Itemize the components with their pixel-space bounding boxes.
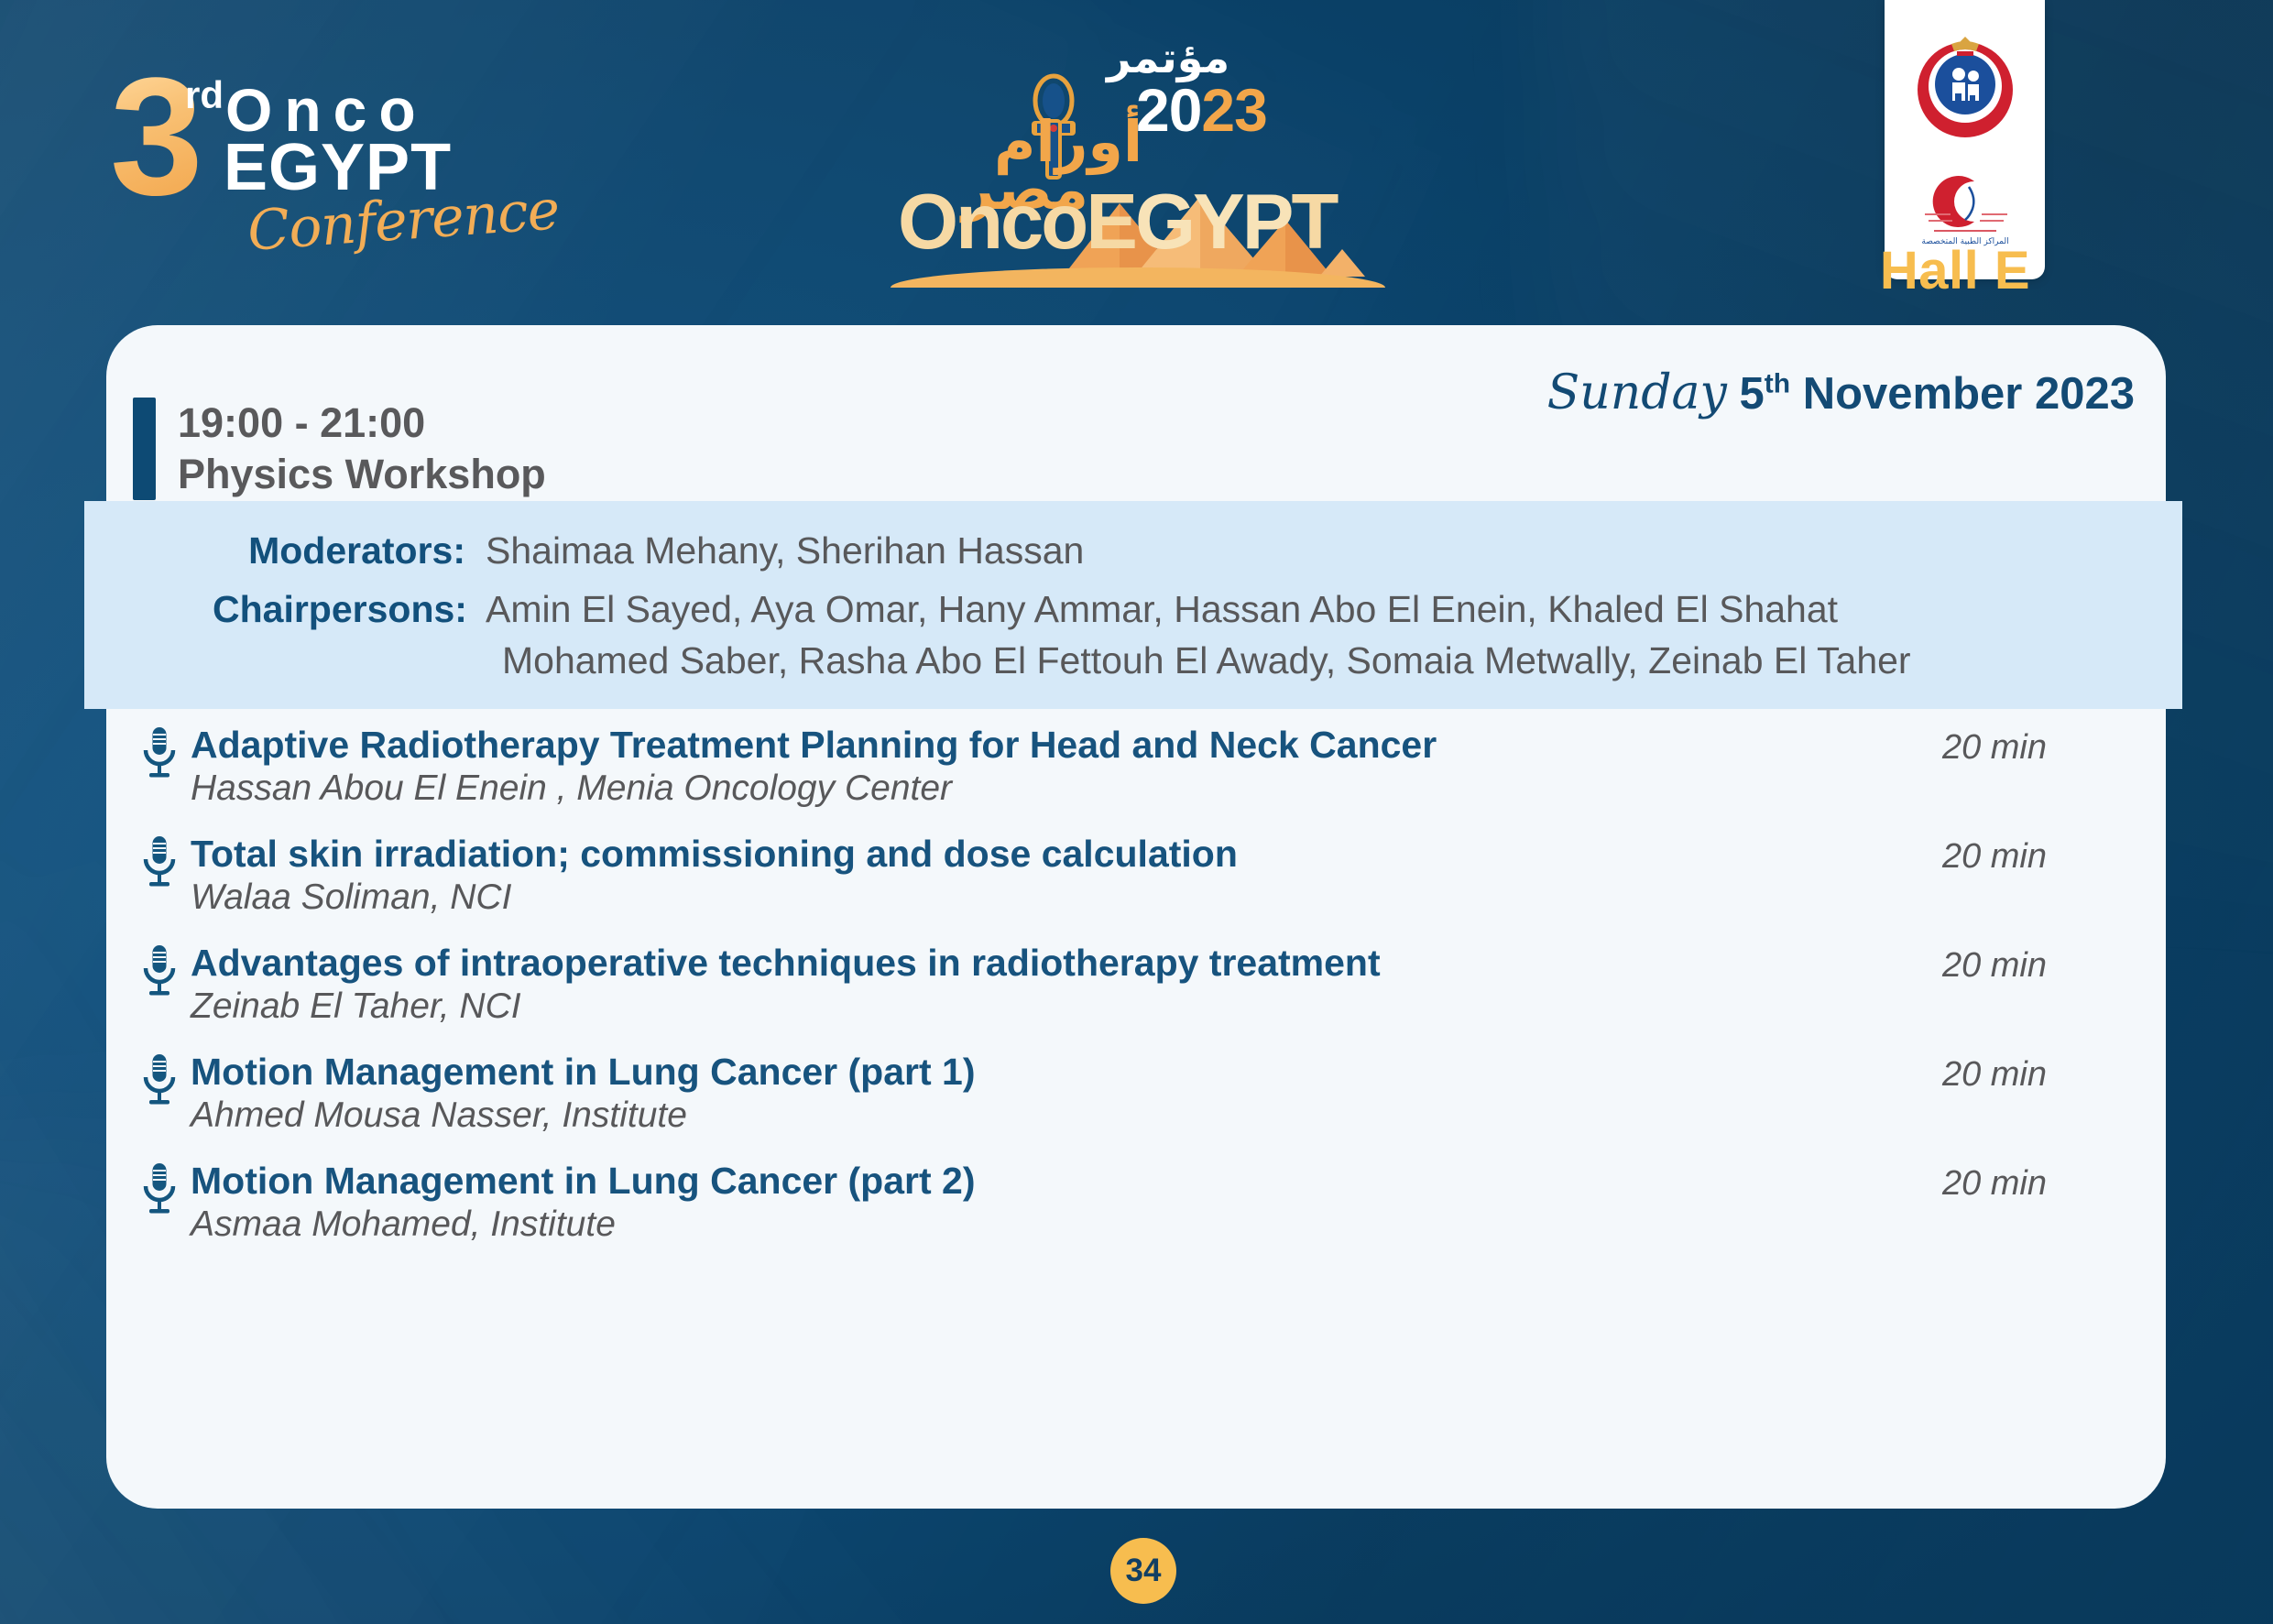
- microphone-icon: [139, 835, 180, 892]
- talk-speaker: Zeinab El Taher, NCI: [191, 986, 521, 1027]
- chairpersons-line-2: Mohamed Saber, Rasha Abo El Fettouh El A…: [502, 635, 1911, 686]
- talk-item[interactable]: Motion Management in Lung Cancer (part 2…: [119, 1155, 2166, 1264]
- talk-speaker: Asmaa Mohamed, Institute: [191, 1204, 616, 1245]
- talk-title: Advantages of intraoperative techniques …: [191, 942, 1381, 985]
- onco-egypt-conference-logo: 3 rd Onco EGYPT Conference: [110, 53, 504, 227]
- wordmark-gyp: GYP: [1135, 179, 1292, 266]
- wordmark-t: T: [1291, 179, 1336, 266]
- talks-list: Adaptive Radiotherapy Treatment Planning…: [119, 719, 2166, 1264]
- talk-duration: 20 min: [1942, 946, 2047, 986]
- talk-title: Motion Management in Lung Cancer (part 1…: [191, 1051, 975, 1094]
- logo-onco-text: Onco: [225, 82, 428, 137]
- oncoegypt-2023-emblem: مؤتمر أورام 2023 مصر: [907, 20, 1383, 304]
- slide-canvas: 3 rd Onco EGYPT Conference مؤتمر أورام 2…: [0, 0, 2273, 1624]
- date-weekday: Sunday: [1547, 365, 1727, 420]
- oncoegypt-wordmark: OncoEGYPT: [898, 183, 1393, 266]
- oncoegypt-text: OncoEGYPT: [898, 183, 1336, 261]
- chairpersons-label: Chairpersons:: [213, 588, 465, 631]
- talk-speaker: Ahmed Mousa Nasser, Institute: [191, 1095, 687, 1136]
- talk-speaker: Walaa Soliman, NCI: [191, 877, 511, 918]
- microphone-icon: [139, 1162, 180, 1219]
- moderators-row: Moderators: Shaimaa Mehany, Sherihan Has…: [213, 525, 1084, 576]
- session-header: 19:00 - 21:00 Physics Workshop: [133, 398, 546, 500]
- moderators-chairpersons-band: Moderators: Shaimaa Mehany, Sherihan Has…: [84, 501, 2182, 709]
- logo-ordinal-suffix: rd: [185, 73, 224, 117]
- talk-title: Motion Management in Lung Cancer (part 2…: [191, 1160, 975, 1203]
- talk-item[interactable]: Advantages of intraoperative techniques …: [119, 937, 2166, 1046]
- talk-item[interactable]: Total skin irradiation; commissioning an…: [119, 828, 2166, 937]
- session-date: Sunday 5th November 2023: [1547, 365, 2135, 420]
- wordmark-onco: Onco: [898, 179, 1086, 266]
- talk-title: Adaptive Radiotherapy Treatment Planning…: [191, 724, 1437, 767]
- talk-duration: 20 min: [1942, 1055, 2047, 1095]
- talk-duration: 20 min: [1942, 728, 2047, 768]
- page-number: 34: [1126, 1553, 1162, 1589]
- chairpersons-names: Amin El Sayed, Aya Omar, Hany Ammar, Has…: [486, 583, 1911, 686]
- microphone-icon: [139, 944, 180, 1001]
- talk-item[interactable]: Motion Management in Lung Cancer (part 1…: [119, 1046, 2166, 1155]
- wordmark-e: E: [1086, 179, 1135, 266]
- session-title: Physics Workshop: [178, 449, 546, 500]
- logo-year: 2023: [1136, 75, 1267, 145]
- talk-title: Total skin irradiation; commissioning an…: [191, 833, 1238, 876]
- talk-speaker: Hassan Abou El Enein , Menia Oncology Ce…: [191, 768, 952, 809]
- chairpersons-row: Chairpersons: Amin El Sayed, Aya Omar, H…: [213, 583, 1911, 686]
- session-time: 19:00 - 21:00: [178, 398, 546, 449]
- date-day-suffix: th: [1765, 369, 1790, 399]
- specialized-medical-centers-logo: المراكز الطبية المتخصصة: [1918, 170, 2013, 249]
- moderators-names: Shaimaa Mehany, Sherihan Hassan: [486, 525, 1084, 576]
- page-number-badge: 34: [1110, 1538, 1176, 1604]
- year-first-part: 20: [1136, 76, 1201, 144]
- sponsor-logo-panel: المراكز الطبية المتخصصة: [1885, 0, 2045, 279]
- talk-duration: 20 min: [1942, 1164, 2047, 1204]
- microphone-icon: [139, 1053, 180, 1110]
- session-accent-bar: [133, 398, 156, 500]
- date-day: 5: [1740, 369, 1765, 419]
- ministry-of-health-logo: [1911, 33, 2019, 141]
- moderators-label: Moderators:: [213, 529, 465, 572]
- chairpersons-line-1: Amin El Sayed, Aya Omar, Hany Ammar, Has…: [486, 588, 1838, 630]
- talk-item[interactable]: Adaptive Radiotherapy Treatment Planning…: [119, 719, 2166, 828]
- hall-label: Hall E: [1880, 240, 2030, 301]
- year-second-part: 23: [1201, 76, 1266, 144]
- date-month-year: November 2023: [1803, 369, 2135, 419]
- talk-duration: 20 min: [1942, 837, 2047, 877]
- microphone-icon: [139, 726, 180, 783]
- session-card: Sunday 5th November 2023 19:00 - 21:00 P…: [106, 325, 2166, 1509]
